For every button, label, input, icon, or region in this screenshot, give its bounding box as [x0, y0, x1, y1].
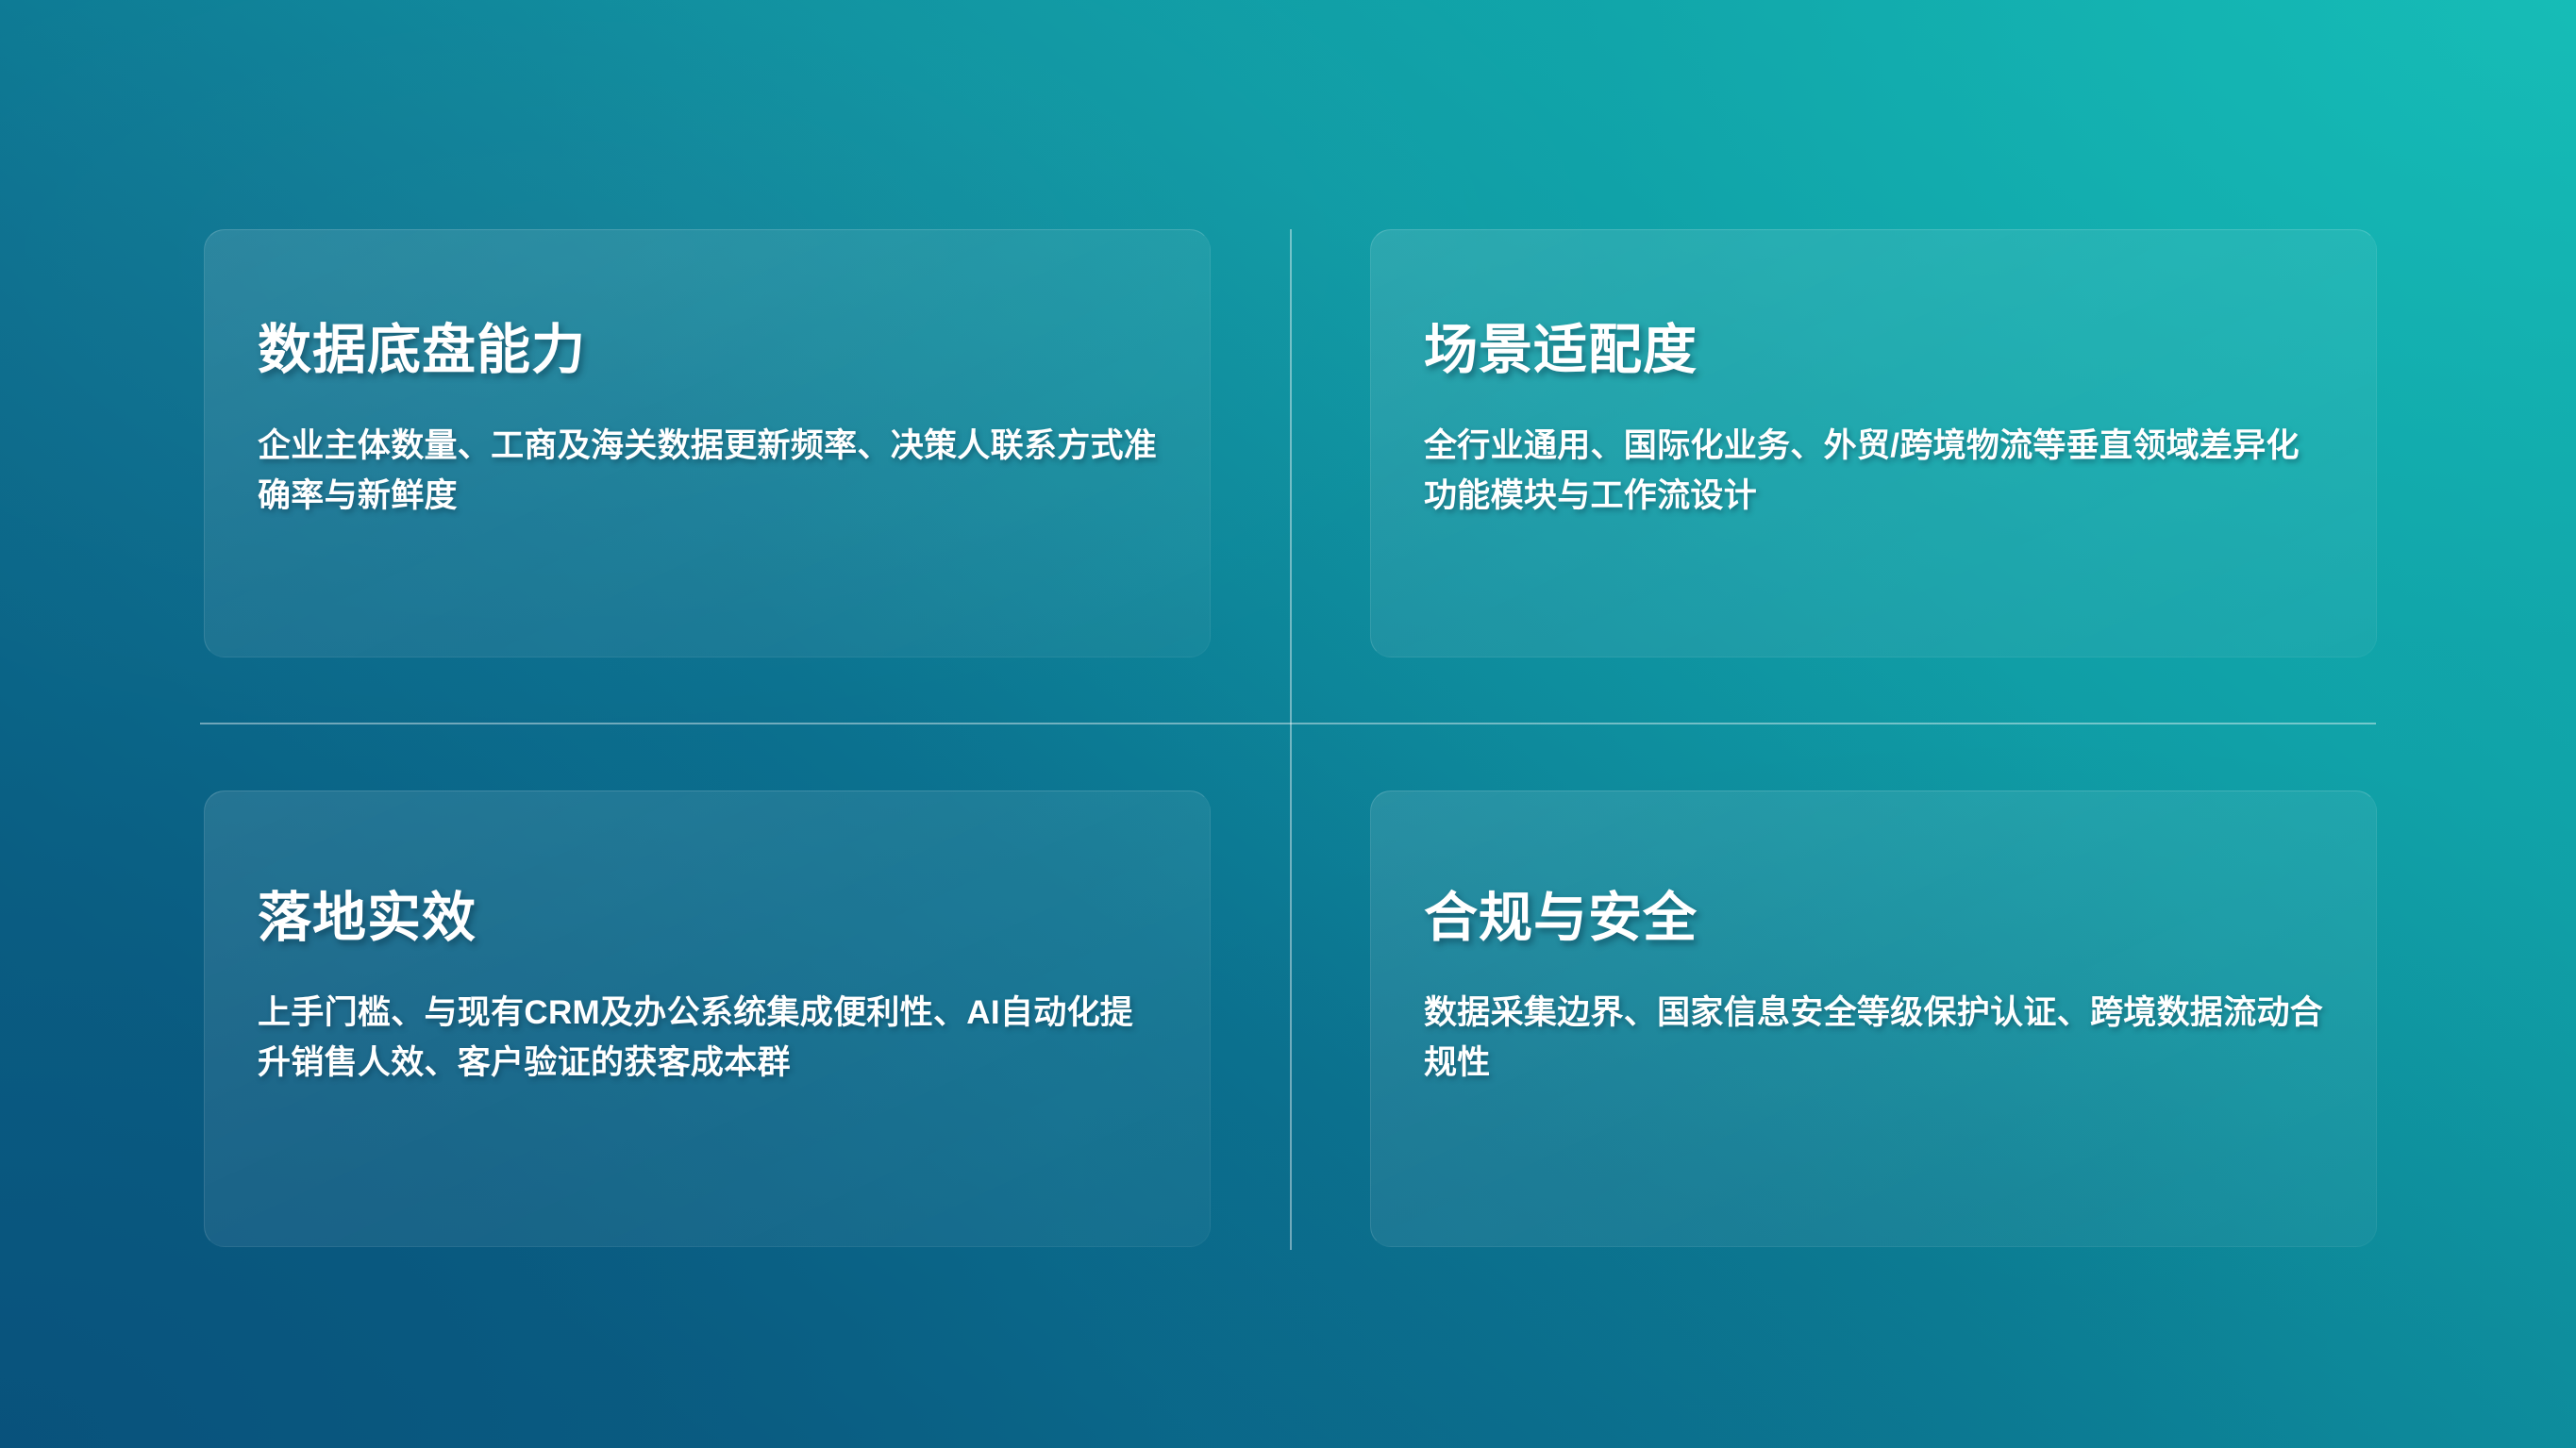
card-title-scenario-fit: 场景适配度: [1424, 323, 1698, 379]
slide-canvas: 数据底盘能力 企业主体数量、工商及海关数据更新频率、决策人联系方式准确率与新鲜度…: [0, 0, 2576, 1448]
card-title-implementation-effect: 落地实效: [258, 890, 477, 947]
card-description-data-foundation: 企业主体数量、工商及海关数据更新频率、决策人联系方式准确率与新鲜度: [258, 421, 1164, 521]
card-description-compliance-security: 数据采集边界、国家信息安全等级保护认证、跨境数据流动合规性: [1424, 988, 2331, 1088]
feature-card-scenario-fit[interactable]: 场景适配度 全行业通用、国际化业务、外贸/跨境物流等垂直领域差异化功能模块与工作…: [1370, 229, 2377, 657]
card-title-compliance-security: 合规与安全: [1424, 890, 1698, 947]
feature-card-grid: 数据底盘能力 企业主体数量、工商及海关数据更新频率、决策人联系方式准确率与新鲜度…: [0, 0, 2576, 1448]
card-title-data-foundation: 数据底盘能力: [258, 323, 586, 379]
card-description-implementation-effect: 上手门槛、与现有CRM及办公系统集成便利性、AI自动化提升销售人效、客户验证的获…: [258, 988, 1164, 1088]
card-description-scenario-fit: 全行业通用、国际化业务、外贸/跨境物流等垂直领域差异化功能模块与工作流设计: [1424, 421, 2331, 521]
feature-card-data-foundation[interactable]: 数据底盘能力 企业主体数量、工商及海关数据更新频率、决策人联系方式准确率与新鲜度: [204, 229, 1211, 657]
feature-card-implementation-effect[interactable]: 落地实效 上手门槛、与现有CRM及办公系统集成便利性、AI自动化提升销售人效、客…: [204, 791, 1211, 1247]
feature-card-compliance-security[interactable]: 合规与安全 数据采集边界、国家信息安全等级保护认证、跨境数据流动合规性: [1370, 791, 2377, 1247]
